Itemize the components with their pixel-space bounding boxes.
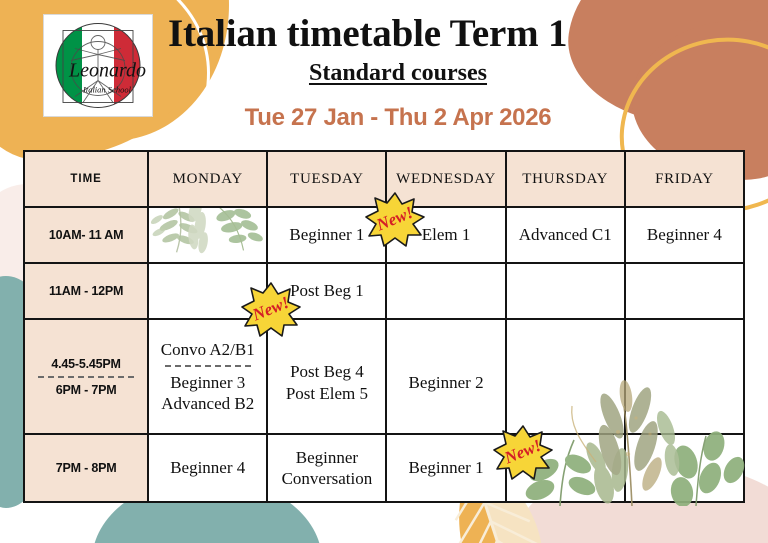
class-cell-thu-2[interactable]	[506, 263, 625, 319]
class-cell-tue-4[interactable]: Beginner Conversation	[267, 434, 386, 502]
class-label-wed-3: Beginner 2	[409, 373, 484, 392]
spacer	[268, 349, 385, 361]
column-header-tuesday: TUESDAY	[267, 151, 386, 207]
class-label-tue-3-a: Post Beg 4	[268, 361, 385, 382]
class-label-tue-1: Beginner 1	[289, 225, 364, 244]
class-cell-wed-4[interactable]: Beginner 1	[386, 434, 505, 502]
time-slot-3: 4.45-5.45PM 6PM - 7PM	[24, 319, 148, 434]
watercolor-eucalyptus-icon	[149, 208, 266, 262]
time-slot-1: 10AM- 11 AM	[24, 207, 148, 263]
school-logo: Leonardo Italian School	[43, 14, 153, 117]
class-label-tue-3-b: Post Elem 5	[268, 383, 385, 404]
timetable-header-row: TIME MONDAY TUESDAY WEDNESDAY THURSDAY F…	[24, 151, 744, 207]
column-header-time: TIME	[24, 151, 148, 207]
class-cell-tue-2[interactable]: Post Beg 1	[267, 263, 386, 319]
column-header-wednesday: WEDNESDAY	[386, 151, 505, 207]
time-slot-3-divider	[38, 376, 134, 378]
table-row: 4.45-5.45PM 6PM - 7PM Convo A2/B1 Beginn…	[24, 319, 744, 434]
table-row: 10AM- 11 AM	[24, 207, 744, 263]
column-header-friday: FRIDAY	[625, 151, 744, 207]
time-slot-3-primary: 4.45-5.45PM	[25, 357, 147, 371]
class-label-fri-1: Beginner 4	[647, 225, 722, 244]
column-header-monday: MONDAY	[148, 151, 267, 207]
page-title: Italian timetable Term 1	[168, 14, 688, 55]
class-label-mon-3-c: Advanced B2	[149, 393, 266, 414]
class-label-wed-4: Beginner 1	[409, 458, 484, 477]
class-cell-wed-3[interactable]: Beginner 2	[386, 319, 505, 434]
class-cell-mon-3[interactable]: Convo A2/B1 Beginner 3 Advanced B2	[148, 319, 267, 434]
class-label-mon-3-a: Convo A2/B1	[149, 339, 266, 360]
term-date-range: Tue 27 Jan - Thu 2 Apr 2026	[168, 104, 628, 132]
spacer	[387, 360, 504, 372]
class-cell-wed-1[interactable]: Elem 1	[386, 207, 505, 263]
class-label-mon-4: Beginner 4	[170, 458, 245, 477]
class-cell-thu-3[interactable]	[506, 319, 625, 434]
timetable: TIME MONDAY TUESDAY WEDNESDAY THURSDAY F…	[23, 150, 745, 503]
column-header-thursday: THURSDAY	[506, 151, 625, 207]
class-cell-tue-1[interactable]: Beginner 1	[267, 207, 386, 263]
timetable-head: TIME MONDAY TUESDAY WEDNESDAY THURSDAY F…	[24, 151, 744, 207]
logo-tagline: Italian School	[82, 84, 132, 94]
table-row: 7PM - 8PM Beginner 4 Beginner Conversati…	[24, 434, 744, 502]
class-cell-fri-4[interactable]	[625, 434, 744, 502]
class-cell-mon-4[interactable]: Beginner 4	[148, 434, 267, 502]
class-cell-tue-3[interactable]: Post Beg 4 Post Elem 5	[267, 319, 386, 434]
class-label-tue-4-a: Beginner	[268, 447, 385, 468]
time-slot-4: 7PM - 8PM	[24, 434, 148, 502]
time-slot-3-secondary: 6PM - 7PM	[25, 383, 147, 397]
class-label-mon-3-b: Beginner 3	[149, 372, 266, 393]
page-subtitle: Standard courses	[168, 60, 628, 87]
poster-header: Leonardo Italian School Italian timetabl…	[0, 0, 768, 145]
class-cell-fri-3[interactable]	[625, 319, 744, 434]
class-cell-mon-2[interactable]	[148, 263, 267, 319]
class-label-thu-1: Advanced C1	[519, 225, 612, 244]
class-cell-fri-2[interactable]	[625, 263, 744, 319]
class-label-tue-4-b: Conversation	[268, 468, 385, 489]
class-cell-thu-1[interactable]: Advanced C1	[506, 207, 625, 263]
timetable-container: TIME MONDAY TUESDAY WEDNESDAY THURSDAY F…	[23, 150, 745, 501]
class-cell-mon-1[interactable]	[148, 207, 267, 263]
class-cell-wed-2[interactable]	[386, 263, 505, 319]
class-cell-fri-1[interactable]: Beginner 4	[625, 207, 744, 263]
class-label-tue-2: Post Beg 1	[290, 281, 364, 300]
time-slot-2: 11AM - 12PM	[24, 263, 148, 319]
class-cell-thu-4[interactable]	[506, 434, 625, 502]
poster-canvas: Leonardo Italian School Italian timetabl…	[0, 0, 768, 543]
table-row: 11AM - 12PM Post Beg 1	[24, 263, 744, 319]
vitruvian-man-logo-icon: Leonardo Italian School	[49, 18, 147, 113]
logo-wordmark: Leonardo	[68, 59, 146, 81]
class-cell-mon-3-divider	[165, 365, 251, 367]
timetable-body: 10AM- 11 AM	[24, 207, 744, 502]
class-label-wed-1: Elem 1	[422, 225, 471, 244]
